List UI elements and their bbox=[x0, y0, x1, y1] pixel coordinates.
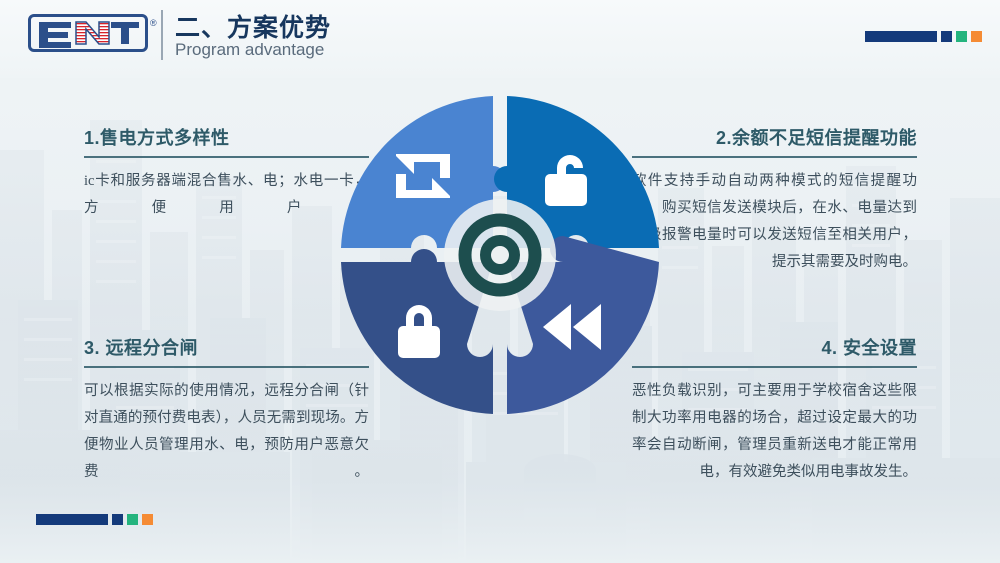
feature-body-4: 恶性负载识别，可主要用于学校宿舍这些限制大功率用电器的场合，超过设定最大的功率会… bbox=[632, 378, 917, 486]
heading-rule bbox=[84, 156, 369, 158]
feature-heading-2: 2.余额不足短信提醒功能 bbox=[632, 126, 917, 150]
deco-square-green bbox=[127, 514, 138, 525]
page-title-cn: 二、方案优势 bbox=[175, 8, 331, 44]
feature-heading-4: 4. 安全设置 bbox=[632, 336, 917, 360]
feature-block-4: 4. 安全设置 恶性负载识别，可主要用于学校宿舍这些限制大功率用电器的场合，超过… bbox=[632, 336, 917, 486]
feature-body-2: 软件支持手动自动两种模式的短信提醒功能，购买短信发送模块后，在水、电量达到一级报… bbox=[632, 168, 917, 276]
deco-bar bbox=[865, 31, 937, 42]
ent-logo bbox=[28, 14, 148, 52]
feature-body-3: 可以根据实际的使用情况，远程分合闸（针对直通的预付费电表），人员无需到现场。方便… bbox=[84, 378, 369, 486]
deco-bar bbox=[36, 514, 108, 525]
header-divider bbox=[161, 10, 163, 60]
feature-heading-1: 1.售电方式多样性 bbox=[84, 126, 369, 150]
deco-square-orange bbox=[971, 31, 982, 42]
deco-square-navy bbox=[941, 31, 952, 42]
feature-block-2: 2.余额不足短信提醒功能 软件支持手动自动两种模式的短信提醒功能，购买短信发送模… bbox=[632, 126, 917, 276]
slide-canvas: ® 二、方案优势 Program advantage 1.售电方式多样性 ic卡… bbox=[0, 0, 1000, 563]
deco-square-orange bbox=[142, 514, 153, 525]
feature-body-1: ic卡和服务器端混合售水、电；水电一卡，方便用户。 bbox=[84, 168, 369, 222]
feature-heading-3: 3. 远程分合闸 bbox=[84, 336, 369, 360]
puzzle-diagram bbox=[335, 90, 665, 420]
slide-header: ® 二、方案优势 Program advantage bbox=[0, 0, 1000, 78]
feature-block-3: 3. 远程分合闸 可以根据实际的使用情况，远程分合闸（针对直通的预付费电表），人… bbox=[84, 336, 369, 486]
registered-trademark-icon: ® bbox=[150, 18, 157, 28]
decoration-top-right bbox=[865, 31, 982, 42]
feature-block-1: 1.售电方式多样性 ic卡和服务器端混合售水、电；水电一卡，方便用户。 bbox=[84, 126, 369, 222]
heading-rule bbox=[632, 156, 917, 158]
heading-rule bbox=[632, 366, 917, 368]
heading-rule bbox=[84, 366, 369, 368]
decoration-bottom-left bbox=[36, 514, 153, 525]
deco-square-navy bbox=[112, 514, 123, 525]
deco-square-green bbox=[956, 31, 967, 42]
page-title-en: Program advantage bbox=[175, 40, 324, 60]
